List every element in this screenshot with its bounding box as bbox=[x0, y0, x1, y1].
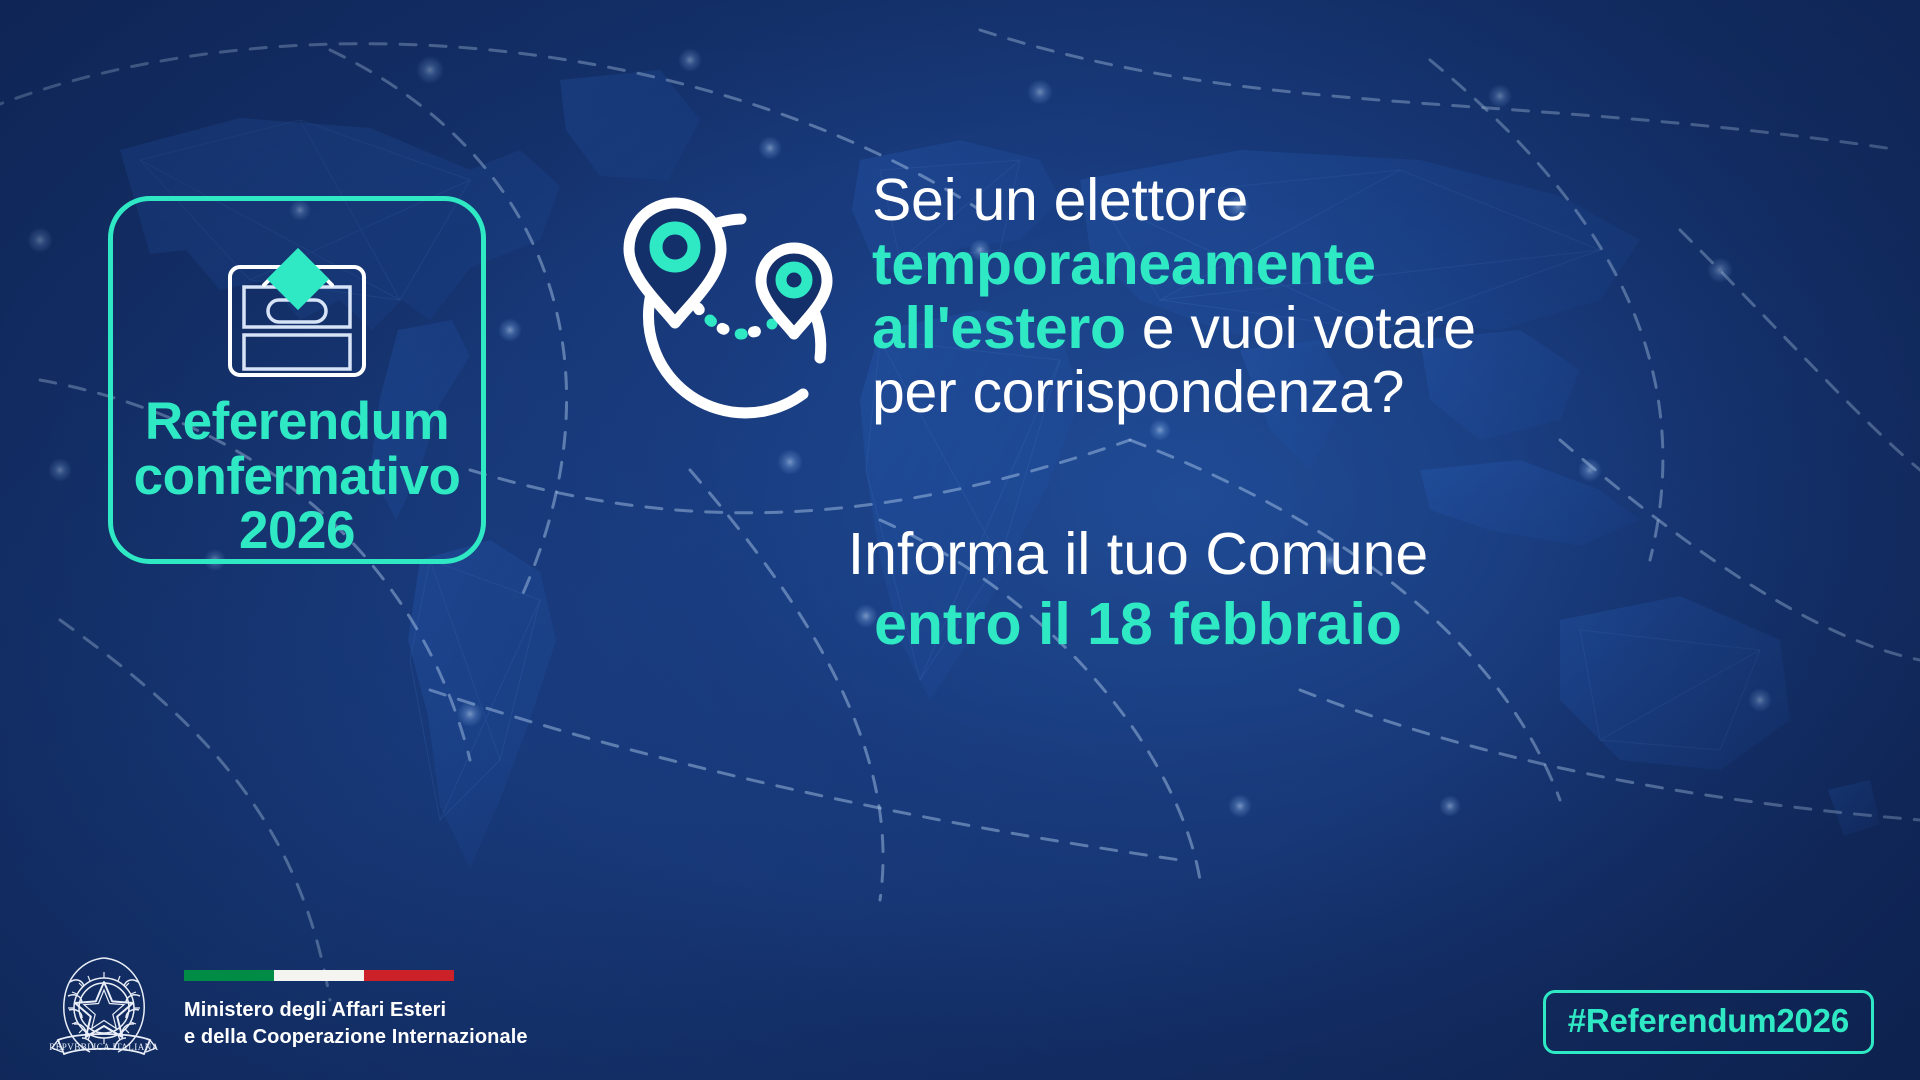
flag-stripe-white bbox=[274, 970, 364, 981]
headline-line-2: temporaneamente bbox=[872, 232, 1502, 296]
flag-stripe-green bbox=[184, 970, 274, 981]
ministry-name: Ministero degli Affari Esteri e della Co… bbox=[184, 997, 528, 1050]
emblem-of-italy-icon: REPVBBLICA ITALIANA bbox=[48, 948, 160, 1066]
ballot-box-icon bbox=[206, 215, 388, 391]
badge-title-line-1: Referendum bbox=[113, 395, 481, 450]
ministry-name-line-1: Ministero degli Affari Esteri bbox=[184, 997, 528, 1023]
headline-line-4: per corrispondenza? bbox=[872, 360, 1502, 424]
sub-message-deadline-highlight: entro bbox=[874, 591, 1022, 657]
sub-message: Informa il tuo Comune entro il 18 febbra… bbox=[728, 520, 1548, 659]
globe-with-location-pins-icon bbox=[606, 186, 866, 456]
globe-illustration bbox=[606, 186, 866, 456]
badge-title-line-2: confermativo bbox=[113, 450, 481, 505]
emblem-motto-text: REPVBBLICA ITALIANA bbox=[49, 1042, 159, 1052]
badge-title: Referendum confermativo 2026 bbox=[113, 395, 481, 559]
headline-line-3-rest: e vuoi votare bbox=[1126, 295, 1476, 361]
sub-message-line-1: Informa il tuo Comune bbox=[728, 520, 1548, 590]
flag-stripe-red bbox=[364, 970, 454, 981]
sub-message-deadline-date: il 18 febbraio bbox=[1022, 591, 1402, 657]
headline: Sei un elettore temporaneamente all'este… bbox=[872, 168, 1502, 424]
italian-flag-bar bbox=[184, 970, 454, 981]
ministry-name-line-2: e della Cooperazione Internazionale bbox=[184, 1024, 528, 1050]
badge-title-line-3: 2026 bbox=[113, 504, 481, 559]
referendum-badge: Referendum confermativo 2026 bbox=[108, 196, 486, 564]
headline-line-3-highlight: all'estero bbox=[872, 295, 1126, 361]
ministry-text-block: Ministero degli Affari Esteri e della Co… bbox=[184, 964, 528, 1050]
headline-line-1: Sei un elettore bbox=[872, 168, 1502, 232]
hashtag-badge: #Referendum2026 bbox=[1543, 990, 1874, 1054]
ministry-logo: REPVBBLICA ITALIANA Ministero degli Affa… bbox=[48, 948, 528, 1066]
sub-message-line-2: entro il 18 febbraio bbox=[728, 590, 1548, 660]
headline-line-3: all'estero e vuoi votare bbox=[872, 296, 1502, 360]
